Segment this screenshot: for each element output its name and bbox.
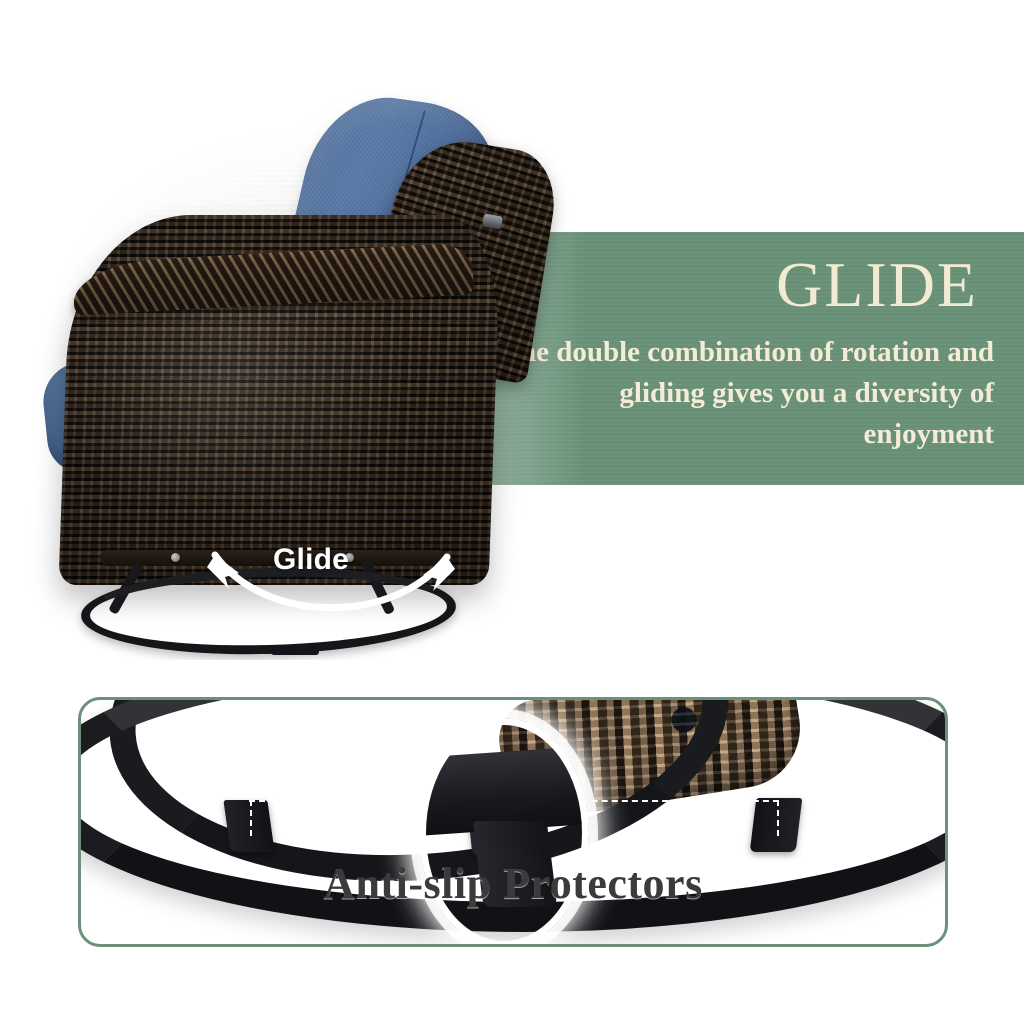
glide-label: Glide [273,543,349,577]
anti-slip-protector-foot [750,798,803,852]
banner-subtitle: The double combination of rotation and g… [494,332,994,456]
zoom-callout-oval [419,718,589,947]
measurement-guide-line [250,800,252,836]
base-foot-pad [271,646,319,655]
swivel-glider-chair-photo: Glide [55,95,525,625]
glide-motion-annotation: Glide [185,533,475,628]
panel-caption: Anti-slip Protectors [81,858,945,909]
measurement-guide-line [777,800,779,836]
glide-feature-section: GLIDE The double combination of rotation… [0,0,1024,660]
banner-title: GLIDE [776,250,978,320]
glide-banner: GLIDE The double combination of rotation… [478,232,1024,485]
anti-slip-protectors-panel: Anti-slip Protectors [78,697,948,947]
base-screw-icon [171,553,180,562]
glider-base-closeup-photo [81,700,948,947]
anti-slip-protector-foot [223,800,274,852]
product-feature-infographic: GLIDE The double combination of rotation… [0,0,1024,1024]
